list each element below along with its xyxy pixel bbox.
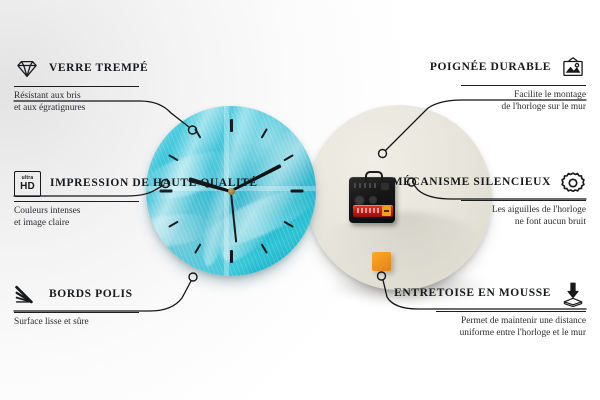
feature-poignee-durable: POIGNÉE DURABLE Facilite le montage de l… (461, 55, 586, 113)
foam-spacer-arrow-icon (560, 281, 586, 307)
feature-title: ENTRETOISE EN MOUSSE (394, 287, 551, 301)
feature-title: VERRE TREMPÉ (49, 62, 148, 76)
battery-label-detail (357, 208, 381, 213)
feature-entretoise-en-mousse: ENTRETOISE EN MOUSSE Permet de maintenir… (436, 281, 586, 339)
feature-verre-trempe: VERRE TREMPÉ Résistant aux bris et aux é… (14, 56, 139, 114)
feature-description: Surface lisse et sûre (14, 317, 139, 328)
mechanism-dial-secondary (369, 196, 377, 204)
foam-spacer-square (372, 252, 391, 271)
mechanism-vent-detail (354, 183, 376, 188)
feature-mecanisme-silencieux: MÉCANISME SILENCIEUX Les aiguilles de l'… (461, 170, 586, 228)
battery-positive-terminal (382, 206, 391, 216)
clock-tick (168, 154, 179, 161)
mechanism-port (381, 183, 389, 190)
hanger-hook-icon (365, 171, 383, 182)
feature-description: Résistant aux bris et aux égratignures (14, 91, 139, 114)
clock-tick (261, 128, 268, 139)
clock-tick (230, 119, 233, 132)
feature-divider (14, 86, 139, 87)
feature-divider (436, 311, 586, 312)
ultra-hd-icon: ultra HD (14, 171, 41, 197)
clock-tick (290, 190, 303, 193)
gear-icon (560, 170, 586, 196)
wall-hanger-frame-icon (560, 55, 586, 81)
clock-tick (283, 221, 294, 228)
ultra-hd-icon-bottom-text: HD (20, 182, 35, 192)
clock-tick (261, 243, 268, 254)
clock-tick (194, 243, 201, 254)
clock-tick (230, 250, 233, 263)
polished-edges-icon (14, 282, 40, 308)
clock-tick (168, 221, 179, 228)
clock-tick (194, 128, 201, 139)
feature-title: IMPRESSION DE HAUTE QUALITÉ (50, 177, 258, 191)
aa-battery (353, 205, 393, 217)
feature-bords-polis: BORDS POLIS Surface lisse et sûre (14, 282, 139, 329)
feature-title: MÉCANISME SILENCIEUX (392, 176, 551, 190)
feature-impression-haute-qualite: ultra HD IMPRESSION DE HAUTE QUALITÉ Cou… (14, 171, 139, 229)
feature-divider (461, 85, 586, 86)
diamond-icon (14, 56, 40, 82)
feature-divider (14, 312, 139, 313)
feature-description: Facilite le montage de l'horloge sur le … (461, 90, 586, 113)
feature-description: Couleurs intenses et image claire (14, 206, 139, 229)
feature-divider (14, 201, 139, 202)
feature-description: Les aiguilles de l'horloge ne font aucun… (461, 205, 586, 228)
feature-divider (461, 200, 586, 201)
clock-front-face (146, 106, 316, 276)
feature-description: Permet de maintenir une distance uniform… (436, 316, 586, 339)
clock-tick (283, 154, 294, 161)
feature-title: POIGNÉE DURABLE (430, 61, 551, 75)
feature-title: BORDS POLIS (49, 288, 133, 302)
infographic-canvas: VERRE TREMPÉ Résistant aux bris et aux é… (0, 0, 600, 400)
